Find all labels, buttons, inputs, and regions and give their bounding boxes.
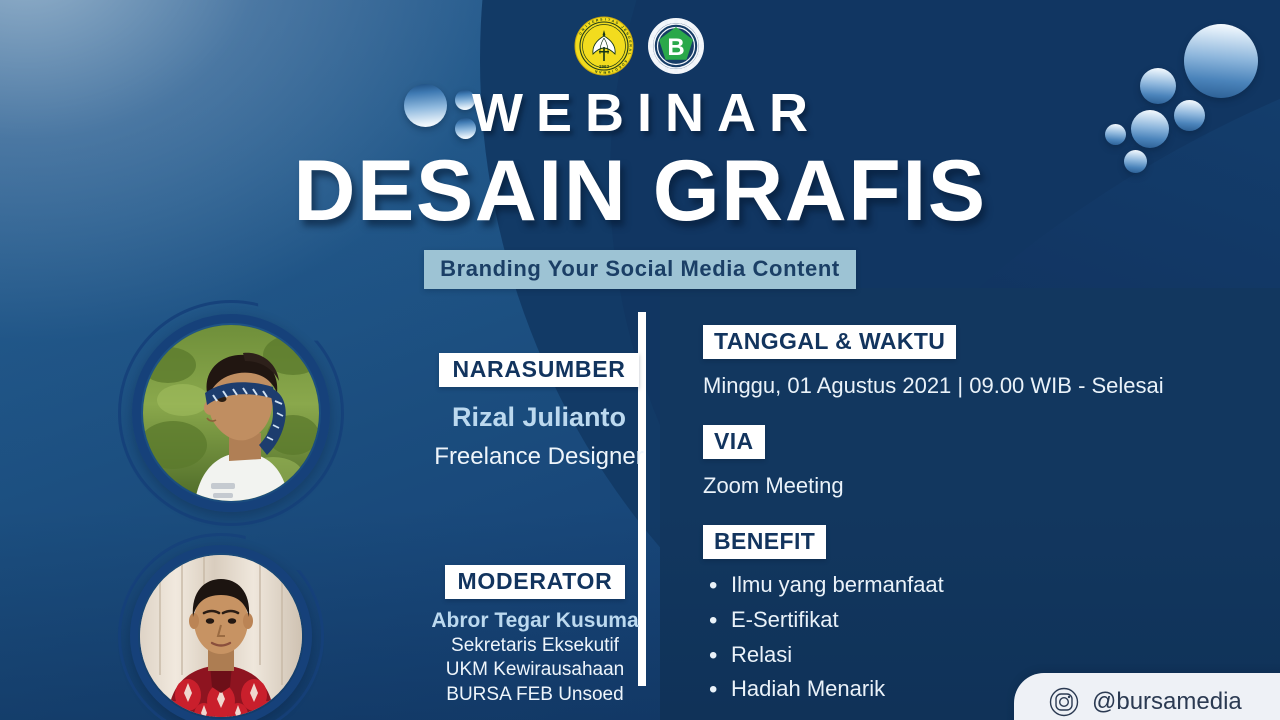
benefit-label: BENEFIT (703, 525, 826, 559)
moderator-position-line3: BURSA FEB Unsoed (370, 683, 700, 707)
benefit-item: Ilmu yang bermanfaat (703, 568, 1243, 603)
event-info-block: TANGGAL & WAKTU Minggu, 01 Agustus 2021 … (703, 325, 1243, 707)
event-subtitle: Branding Your Social Media Content (424, 250, 856, 289)
moderator-position-line1: Sekretaris Eksekutif (370, 634, 700, 658)
moderator-position-line2: UKM Kewirausahaan (370, 658, 700, 682)
webinar-poster: 1963 U N I V E R S I T A S J E N D (0, 0, 1280, 720)
datetime-value: Minggu, 01 Agustus 2021 | 09.00 WIB - Se… (703, 373, 1243, 399)
bursa-gear-logo-icon: B (646, 16, 706, 76)
event-kicker: WEBINAR (0, 86, 1280, 140)
datetime-label: TANGGAL & WAKTU (703, 325, 956, 359)
svg-text:M: M (603, 70, 606, 74)
moderator-name: Abror Tegar Kusuma (370, 608, 700, 634)
moderator-text: MODERATOR Abror Tegar Kusuma Sekretaris … (370, 565, 700, 707)
unsoed-university-seal-icon: 1963 U N I V E R S I T A S J E N D (574, 16, 634, 76)
speaker-name: Rizal Julianto (374, 401, 704, 435)
benefit-item: Relasi (703, 638, 1243, 673)
via-value: Zoom Meeting (703, 473, 1243, 499)
logo-row: 1963 U N I V E R S I T A S J E N D (0, 16, 1280, 76)
speaker-photo (143, 325, 319, 501)
instagram-icon (1049, 687, 1079, 717)
speaker-block: NARASUMBER Rizal Julianto Freelance Desi… (118, 300, 704, 526)
speaker-title: Freelance Designer (374, 442, 704, 473)
benefit-item: E-Sertifikat (703, 603, 1243, 638)
moderator-block: MODERATOR Abror Tegar Kusuma Sekretaris … (118, 533, 700, 720)
moderator-avatar (118, 533, 324, 720)
svg-text:B: B (667, 34, 684, 61)
event-title: DESAIN GRAFIS (0, 148, 1280, 236)
speaker-role-label: NARASUMBER (439, 353, 638, 387)
moderator-role-label: MODERATOR (445, 565, 626, 599)
social-handle-pill[interactable]: @bursamedia (1014, 673, 1280, 720)
via-label: VIA (703, 425, 765, 459)
speaker-text: NARASUMBER Rizal Julianto Freelance Desi… (374, 353, 704, 472)
instagram-handle: @bursamedia (1092, 688, 1242, 716)
moderator-photo (140, 555, 302, 717)
datetime-group: TANGGAL & WAKTU Minggu, 01 Agustus 2021 … (703, 325, 1243, 399)
svg-text:1963: 1963 (599, 64, 610, 69)
headline-block: WEBINAR DESAIN GRAFIS Branding Your Soci… (0, 86, 1280, 289)
via-group: VIA Zoom Meeting (703, 425, 1243, 499)
speaker-avatar (118, 300, 344, 526)
